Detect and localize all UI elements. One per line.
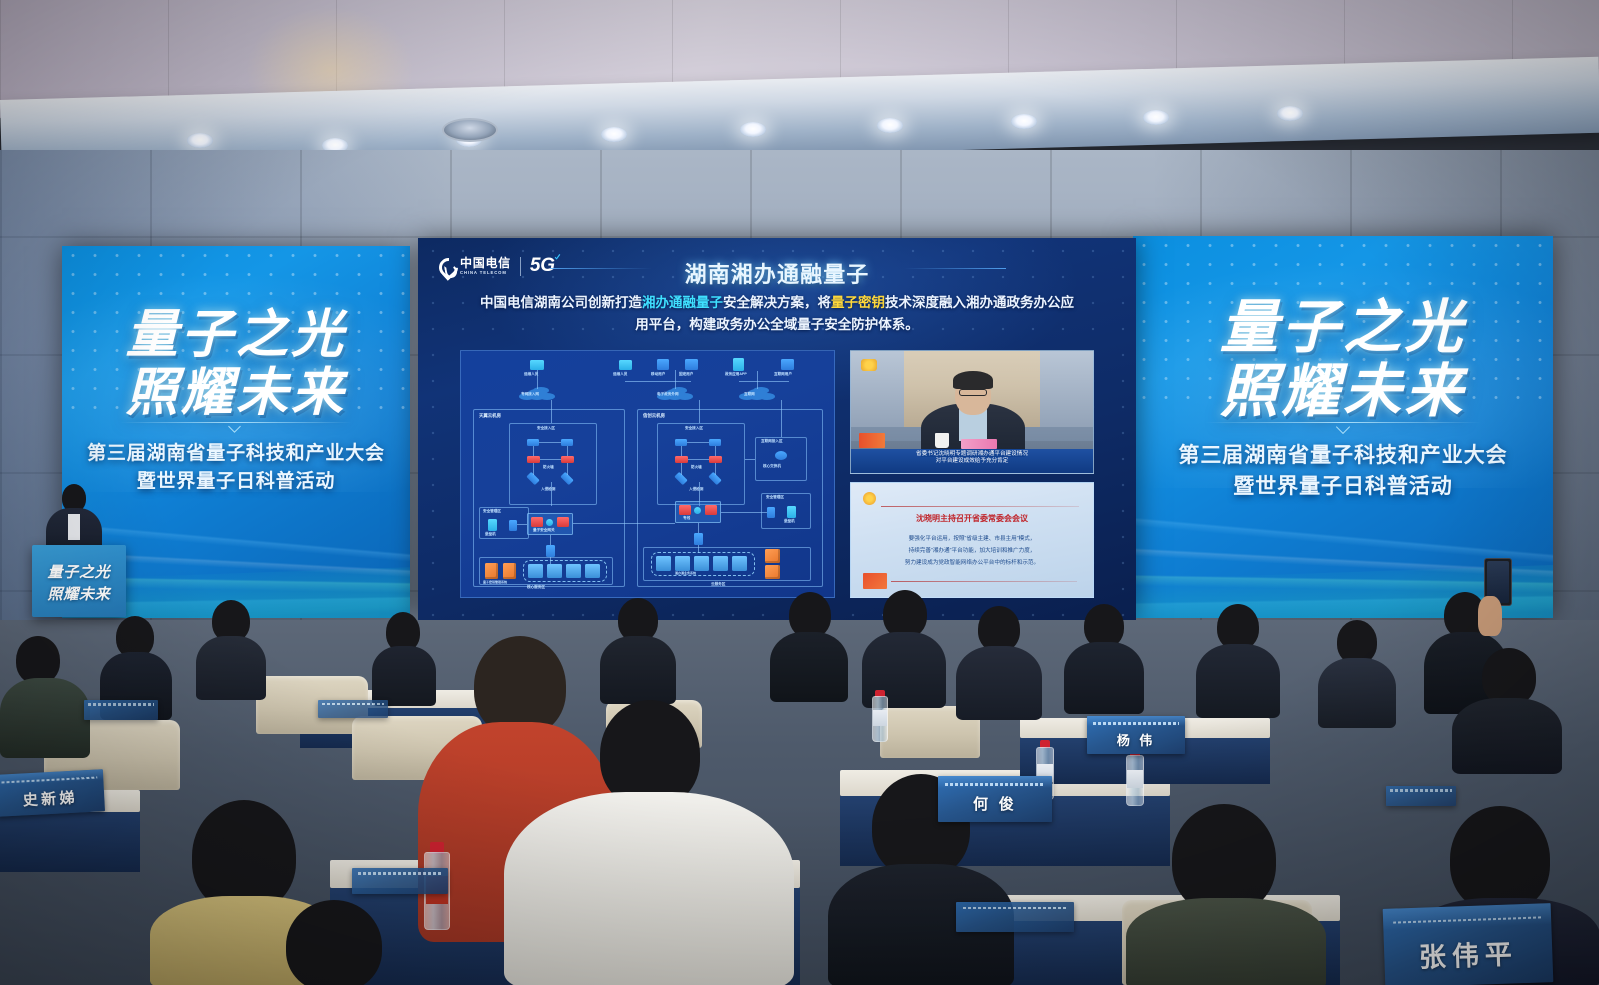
audience-person-front (1126, 804, 1326, 985)
node-label-bastion: 堡垒机 (485, 532, 496, 537)
card-header-text (1093, 722, 1179, 725)
card-name-text: 史新娣 (0, 785, 105, 812)
card-header-text (1390, 789, 1452, 792)
name-card-generic (956, 902, 1074, 932)
audience-person (0, 636, 90, 756)
connector (567, 446, 568, 456)
speaker-shirt (68, 514, 80, 540)
server-icon (675, 556, 690, 571)
video-backdrop-left (851, 351, 904, 427)
video-flag-icon (859, 433, 885, 448)
connector (687, 442, 709, 443)
ceiling-downlight (1011, 114, 1037, 129)
bastion-host-node (488, 519, 497, 531)
node-label-storage: 量子密钥管理系统 (483, 580, 507, 584)
audience-person (770, 592, 848, 700)
name-card-generic (84, 700, 158, 720)
firewall-node (561, 456, 574, 463)
card-top-band (938, 776, 1052, 788)
zone-label: 互联网接入区 (761, 439, 783, 444)
firewall-node (527, 456, 540, 463)
room-label-xinchuang: 信创云机房 (643, 413, 665, 419)
person-body (770, 632, 848, 702)
endpoint-icon-internet-user (781, 359, 794, 370)
gateway-node (557, 517, 569, 527)
person-body (196, 636, 266, 700)
video-person-glasses (959, 389, 987, 396)
audience-person-front (504, 700, 794, 985)
endpoint-label: 运维人员 (613, 372, 627, 377)
node-label-firewall: 防火墙 (691, 465, 702, 470)
name-card-generic (1386, 786, 1456, 806)
connector (533, 446, 534, 456)
cloud-label: 互联网 (744, 392, 755, 397)
firewall-node (709, 456, 722, 463)
connector (675, 370, 676, 389)
switch-node (767, 507, 775, 518)
name-card-generic (352, 868, 448, 894)
video-caption-bar: 省委书记沈晓明专题调研湘办通平台建设情况 对平台建设成效给予充分肯定 (851, 449, 1093, 473)
person-body (1126, 898, 1326, 985)
gateway-node (705, 505, 717, 515)
person-body (1064, 642, 1144, 714)
zone-label: 安全接入区 (685, 426, 703, 431)
node-label-ids: 入侵检测 (541, 487, 555, 492)
name-card-he-jun: 何 俊 (938, 776, 1052, 822)
news-body-line1: 要强化平台运用，按照“省级主建、市县主用”模式， (865, 535, 1079, 545)
connector (551, 482, 552, 506)
podium-line1: 量子之光 (32, 561, 126, 582)
broadcaster-logo-icon (861, 359, 877, 371)
connector (757, 371, 758, 389)
connector (517, 524, 527, 525)
name-card-zhang-weiping: 张伟平 (1383, 903, 1554, 985)
audience-person (862, 590, 946, 706)
card-name-text: 何 俊 (938, 793, 1052, 814)
water-bottle (1126, 748, 1144, 806)
connector (715, 446, 716, 456)
card-name-text: 杨 伟 (1087, 730, 1185, 749)
endpoint-label: 政务应用APP (725, 372, 747, 377)
card-header-text (88, 703, 153, 706)
switch-node (527, 439, 539, 446)
cluster-label-business: 湘办通业务系统 (675, 571, 696, 575)
server-icon (566, 564, 581, 578)
connector (698, 523, 699, 533)
connector (625, 381, 675, 382)
video-person-hair (953, 371, 993, 389)
left-hero-line2: 照耀未来 (62, 350, 410, 425)
bottle-label (873, 710, 887, 726)
person-body (1318, 658, 1396, 728)
storage-box-icon (485, 563, 498, 579)
endpoint-icon-app (733, 358, 744, 371)
endpoint-label: 固定用户 (679, 372, 693, 377)
news-seal-icon (863, 573, 887, 589)
zone-secure-access-left (509, 423, 597, 505)
connector (539, 442, 561, 443)
audience-person (1318, 620, 1396, 724)
bastion-host-node (787, 506, 796, 518)
caption-line-2: 对平台建设成效给予充分肯定 (851, 458, 1093, 465)
person-body (1196, 644, 1280, 718)
quantum-key-icon (546, 519, 553, 526)
news-video-panel: 省委书记沈晓明专题调研湘办通平台建设情况 对平台建设成效给予充分肯定 (850, 350, 1094, 474)
center-led-screen: 中国电信 CHINA TELECOM 5G 湖南湘办通融量子 中国电信湖南公司创… (418, 238, 1136, 620)
body-text-2: 安全解决方案，将 (723, 295, 831, 310)
news-divider-top (881, 506, 1079, 507)
connector red (688, 459, 709, 460)
connector (537, 370, 538, 389)
switch-node (509, 520, 517, 531)
person-head (1450, 806, 1550, 912)
name-card-generic (318, 700, 388, 718)
lectern-podium: 量子之光 照耀未来 (32, 545, 126, 617)
body-text-3: 技术深度融入湘办通政务办公应 (885, 295, 1074, 310)
water-bottle (872, 690, 888, 742)
server-icon (713, 556, 728, 571)
podium-line2: 照耀未来 (32, 583, 126, 604)
server-icon (656, 556, 671, 571)
person-body (0, 678, 90, 758)
body-highlight-1: 湘办通融量子 (642, 295, 723, 310)
cloud-label: 专网接入网 (521, 392, 539, 397)
audience-person (196, 600, 266, 698)
cloud-label: 电子政务外网 (657, 392, 679, 397)
switch-node (546, 545, 555, 557)
node-label-bastion: 堡垒机 (784, 519, 795, 524)
connector (745, 459, 755, 460)
person-head (883, 590, 927, 638)
ceiling-speaker (442, 118, 498, 142)
connector (551, 400, 552, 423)
audience-person (1064, 604, 1144, 712)
ceiling-downlight (740, 122, 766, 137)
gateway-node (531, 517, 543, 527)
switch-node (694, 533, 703, 545)
network-architecture-diagram: 运维人员 运维人员 移动用户 固定用户 政务应用APP 互联网用户 专网接入网 … (460, 350, 835, 598)
zone-label: 安全管理区 (483, 509, 501, 514)
ceiling-downlight (1277, 106, 1303, 121)
endpoint-label: 移动用户 (651, 372, 665, 377)
news-body-line2: 持续完善“湘办通”平台功能，加大培训和推广力度， (865, 547, 1079, 557)
node-label-quantum-gateway: 量子安全网关 (533, 528, 555, 533)
right-hero-line2: 照耀未来 (1133, 344, 1553, 428)
person-body (504, 792, 794, 985)
connector (781, 400, 782, 437)
connector (715, 463, 716, 475)
quantum-key-icon (694, 507, 701, 514)
news-body-line3: 努力建设成为党政智能网络办公平台中的标杆和示范。 (865, 559, 1079, 569)
endpoint-icon-mobile (657, 359, 669, 370)
node-label-firewall: 防火墙 (543, 465, 554, 470)
person-head (286, 900, 382, 985)
body-text-1: 中国电信湖南公司创新打造 (480, 295, 642, 310)
router-node (775, 451, 787, 460)
bottle-label (1127, 770, 1143, 788)
storage-box-icon (765, 565, 780, 579)
server-icon (585, 564, 600, 578)
table-skirt (0, 812, 140, 872)
connector-dedicated-line (573, 523, 675, 524)
card-header-text (963, 907, 1067, 910)
news-headline: 沈晓明主持召开省委常委会会议 (851, 513, 1093, 524)
ceiling-downlight (1143, 110, 1169, 125)
news-slide-panel: 沈晓明主持召开省委常委会会议 要强化平台运用，按照“省级主建、市县主用”模式， … (850, 482, 1094, 598)
switch-node (709, 439, 721, 446)
gateway-node (679, 505, 691, 515)
endpoint-label: 互联网用户 (774, 372, 792, 377)
conference-photo-scene: 量子之光 照耀未来 第三届湖南省量子科技和产业大会 暨世界量子日科普活动 量子之… (0, 0, 1599, 985)
slide-title: 湖南湘办通融量子 (418, 257, 1136, 289)
server-icon (732, 556, 747, 571)
card-header-text (322, 703, 384, 706)
switch-node (561, 439, 573, 446)
body-highlight-2: 量子密钥 (831, 295, 885, 310)
broadcaster-logo-icon (863, 492, 876, 505)
slide-body-line1: 中国电信湖南公司创新打造湘办通融量子安全解决方案，将量子密钥技术深度融入湘办通政… (448, 293, 1106, 314)
person-body (1452, 698, 1562, 774)
audience-photographer (1452, 626, 1562, 766)
name-card-yang-wei: 杨 伟 (1087, 716, 1185, 754)
audience-person (956, 606, 1042, 718)
storage-box-icon (503, 563, 516, 579)
card-name-text: 张伟平 (1384, 932, 1553, 977)
audience-person (1196, 604, 1280, 716)
server-icon (694, 556, 709, 571)
connector (681, 446, 682, 456)
zone-label: 安全管理区 (766, 495, 784, 500)
connector (675, 381, 691, 382)
node-label-ids: 入侵检测 (689, 487, 703, 492)
storage-box-icon (765, 549, 780, 563)
slide-body-line2: 用平台，构建政务办公全域量子安全防护体系。 (448, 315, 1106, 336)
zone-secure-access-right (657, 423, 745, 505)
endpoint-icon-ops (530, 360, 544, 370)
connector (533, 463, 534, 475)
connector (567, 463, 568, 475)
card-header-text (945, 783, 1045, 786)
ceiling-downlight (601, 127, 627, 142)
person-body (956, 646, 1042, 720)
zone-label: 云服务区 (711, 582, 725, 587)
news-divider-bottom (891, 581, 1077, 582)
room-label-tianyi: 天翼云机房 (479, 413, 501, 419)
server-icon (547, 564, 562, 578)
connector (699, 400, 700, 423)
switch-node (675, 439, 687, 446)
zone-label: 核心服务区 (527, 585, 545, 590)
person-head (16, 636, 60, 684)
video-nameplate (961, 439, 997, 449)
audience-person-front (258, 900, 418, 985)
ceiling-downlight (877, 118, 903, 133)
node-label-quantum-gateway: 专线 (683, 516, 690, 521)
video-teacup-icon (935, 433, 949, 448)
connector (681, 463, 682, 475)
connector (721, 512, 767, 513)
hand-holding-phone (1478, 596, 1502, 636)
endpoint-icon-fixed (685, 359, 698, 370)
name-card-shi-xindi: 史新娣 (0, 769, 105, 817)
server-icon (528, 564, 543, 578)
connector (739, 381, 789, 382)
card-header-text (358, 872, 443, 875)
node-label: 核心交换机 (763, 464, 781, 469)
video-backdrop-right (1040, 351, 1093, 427)
endpoint-icon-ops2 (619, 360, 632, 370)
zone-label: 安全接入区 (537, 426, 555, 431)
connector red (540, 459, 561, 460)
firewall-node (675, 456, 688, 463)
ceiling-downlight (187, 133, 213, 148)
connector (550, 535, 551, 545)
